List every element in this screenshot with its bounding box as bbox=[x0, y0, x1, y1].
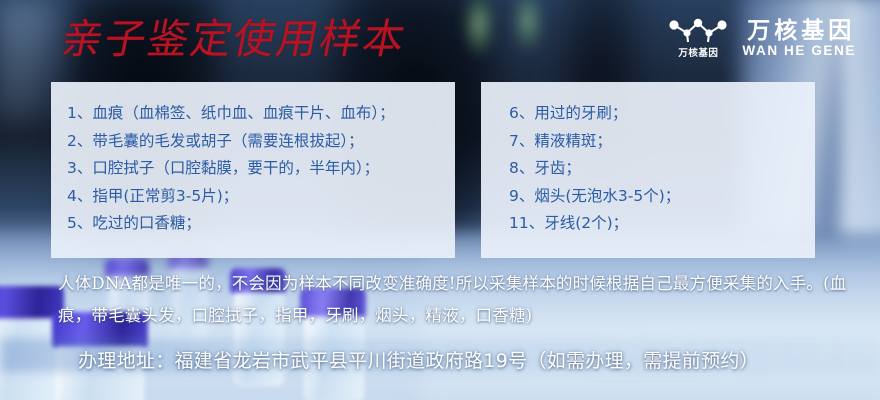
sample-list-right: 6、用过的牙刷； 7、精液精斑； 8、牙齿； 9、烟头(无泡水3-5个)； 11… bbox=[481, 82, 815, 238]
list-item: 11、牙线(2个)； bbox=[481, 210, 815, 238]
logo-mark-sublabel: 万核基因 bbox=[678, 48, 718, 59]
list-item: 6、用过的牙刷； bbox=[481, 100, 815, 128]
sample-list-panel-left: 1、血痕（血棉签、纸巾血、血痕干片、血布）； 2、带毛囊的毛发或胡子（需要连根拔… bbox=[51, 82, 455, 258]
list-item: 3、口腔拭子（口腔黏膜，要干的，半年内）； bbox=[51, 155, 455, 183]
list-item: 2、带毛囊的毛发或胡子（需要连根拔起）； bbox=[51, 128, 455, 156]
list-item: 9、烟头(无泡水3-5个)； bbox=[481, 183, 815, 211]
list-item: 5、吃过的口香糖； bbox=[51, 210, 455, 238]
list-item: 1、血痕（血棉签、纸巾血、血痕干片、血布）； bbox=[51, 100, 455, 128]
logo-brand-en: WAN HE GENE bbox=[742, 43, 856, 59]
brand-logo: 万核基因 万核基因 WAN HE GENE bbox=[667, 16, 856, 59]
office-address: 办理地址：福建省龙岩市武平县平川街道政府路19号（如需办理，需提前预约） bbox=[78, 348, 759, 374]
sample-list-panel-right: 6、用过的牙刷； 7、精液精斑； 8、牙齿； 9、烟头(无泡水3-5个)； 11… bbox=[481, 82, 815, 258]
bg-green-highlight-b bbox=[516, 0, 540, 50]
logo-brand-cn: 万核基因 bbox=[743, 17, 855, 43]
sample-list-left: 1、血痕（血棉签、纸巾血、血痕干片、血布）； 2、带毛囊的毛发或胡子（需要连根拔… bbox=[51, 82, 455, 238]
logo-wordmark: 万核基因 WAN HE GENE bbox=[742, 17, 856, 59]
list-item: 7、精液精斑； bbox=[481, 128, 815, 156]
list-item: 4、指甲(正常剪3-5片)； bbox=[51, 183, 455, 211]
molecule-icon bbox=[667, 16, 729, 46]
page-title: 亲子鉴定使用样本 bbox=[58, 16, 411, 62]
logo-mark: 万核基因 bbox=[667, 16, 729, 59]
list-item: 8、牙齿； bbox=[481, 155, 815, 183]
poster-banner: 亲子鉴定使用样本 万核基因 万核基因 WAN HE GENE bbox=[0, 0, 880, 400]
disclaimer-note: 人体DNA都是唯一的，不会因为样本不同改变准确度!所以采集样本的时候根据自己最方… bbox=[58, 268, 848, 332]
